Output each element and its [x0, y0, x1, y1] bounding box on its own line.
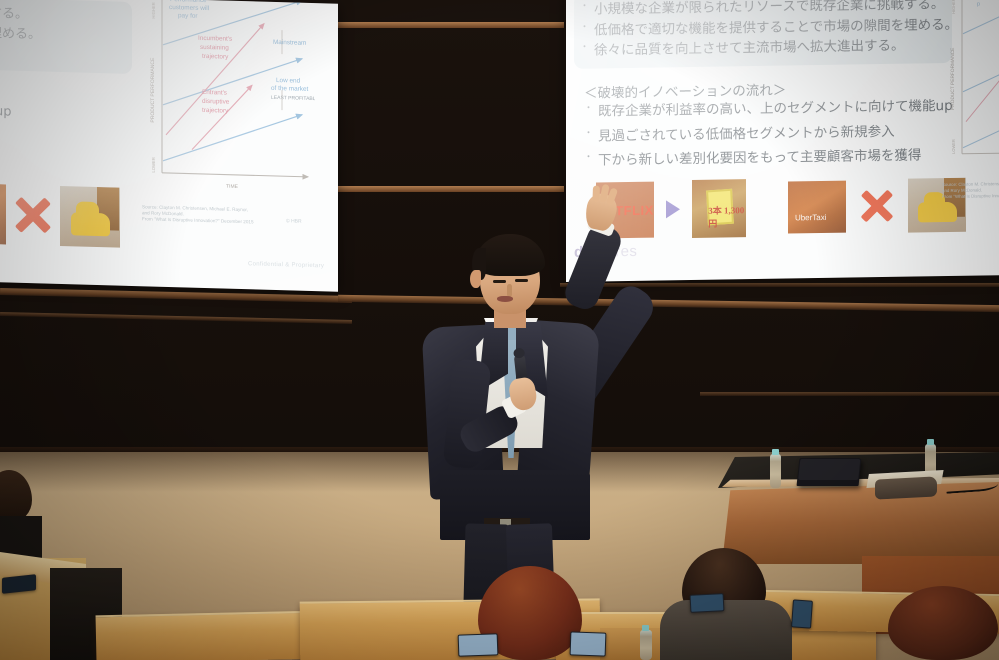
x-mark-icon — [12, 194, 54, 237]
slide-left-highlight-text: 既存企業に挑戦する。 で市場の隙間を埋める。 拡大進出する。 — [0, 0, 132, 74]
bullet-marker: ・ — [580, 20, 589, 35]
mouth — [497, 296, 513, 302]
uber-photo-thumb: UberTaxi — [0, 183, 6, 245]
slide-left-thumbnails: UberTaxi — [0, 183, 120, 248]
svg-text:sustaining: sustaining — [200, 44, 229, 52]
audience-phone-right[interactable] — [791, 599, 813, 628]
audience-phone-raised[interactable] — [690, 593, 725, 613]
svg-text:HIGHER: HIGHER — [151, 2, 156, 18]
chart-source-credit: © HBR — [286, 218, 302, 224]
slide-left-footer: Confidential & Proprietary — [248, 261, 324, 269]
slide-right-b-2: 見過ごされている低価格セグメントから新規参入 — [598, 121, 895, 146]
svg-text:p: p — [977, 1, 980, 7]
x-mark-icon-right — [858, 187, 896, 226]
svg-text:PRODUCT PERFORMANCE: PRODUCT PERFORMANCE — [950, 48, 956, 110]
video-rental-photo: 3本 1,300円 — [692, 179, 746, 238]
svg-text:LOWER: LOWER — [951, 139, 956, 154]
bag[interactable] — [875, 476, 937, 499]
panel-rail-bottom — [338, 186, 564, 192]
podium-front — [722, 482, 999, 564]
slide-left-lower-text: メントに向けて機能up から新規参入 要顧客市場を獲得 — [0, 99, 12, 174]
slide-left-line-1: 既存企業に挑戦する。 — [0, 1, 28, 24]
chart-source-note: Source: Clayton M. Christensen, Michael … — [142, 204, 254, 226]
svg-text:customers will: customers will — [169, 4, 209, 12]
slide-right-thumbnails: NETFLIX 3本 1,300円 UberTaxi — [596, 176, 966, 240]
audience-tablet-left[interactable] — [458, 633, 499, 656]
bullet-marker: ・ — [584, 151, 593, 166]
slide-right-highlight-box: ・ 小規模な企業が限られたリソースで既存企業に挑戦する。 ・ 低価格で適切な機能… — [574, 0, 952, 68]
projection-screen-left: 既存企業に挑戦する。 で市場の隙間を埋める。 拡大進出する。 メントに向けて機能… — [0, 0, 338, 292]
slide-right-b-1: 既存企業が利益率の高い、上のセグメントに向けて機能up — [598, 96, 953, 122]
svg-text:Entrant's: Entrant's — [202, 89, 227, 97]
laptop[interactable] — [797, 458, 862, 486]
wall-trim-right — [700, 392, 999, 396]
svg-text:TIME: TIME — [226, 184, 239, 190]
audience-tablet-center[interactable] — [570, 631, 607, 656]
svg-text:LOWER: LOWER — [151, 157, 156, 172]
chart-svg: Performance customers will pay for MOST … — [140, 0, 315, 199]
svg-text:disruptive: disruptive — [202, 98, 230, 106]
audience-water-bottle[interactable] — [640, 630, 652, 660]
ear — [470, 270, 481, 288]
slide-left-line-2: で市場の隙間を埋める。 — [0, 21, 41, 45]
svg-text:PRODUCT PERFORMANCE: PRODUCT PERFORMANCE — [150, 57, 156, 123]
water-bottle-left[interactable] — [770, 454, 781, 488]
svg-text:Low end: Low end — [276, 77, 301, 85]
svg-text:Mainstream: Mainstream — [273, 39, 306, 47]
taxi-photo-thumb — [60, 186, 120, 248]
svg-text:HIGHER: HIGHER — [951, 0, 956, 14]
uber-photo: UberTaxi — [788, 181, 846, 234]
disruptive-innovation-chart: Performance customers will pay for MOST … — [140, 0, 315, 199]
bullet-marker: ・ — [580, 0, 589, 15]
podium-table — [718, 452, 999, 564]
svg-text:cust: cust — [973, 0, 984, 1]
presenter — [404, 218, 634, 618]
bullet-marker: ・ — [580, 41, 589, 56]
rental-price-label: 3本 1,300円 — [708, 204, 746, 231]
audience-hoodie-center-body — [660, 600, 792, 660]
slide-right-hl-3: 徐々に品質を向上させて主流市場へ拡大進出する。 — [594, 36, 905, 61]
svg-text:of the market: of the market — [271, 85, 309, 93]
disruptive-innovation-chart-right: Perf cust p PRODUCT PERFORMANCE LOWER HI… — [940, 0, 999, 176]
lecture-hall-photo: 既存企業に挑戦する。 で市場の隙間を埋める。 拡大進出する。 メントに向けて機能… — [0, 0, 999, 660]
svg-text:pay for: pay for — [178, 12, 198, 20]
hair — [475, 234, 545, 276]
chart-svg-right: Perf cust p PRODUCT PERFORMANCE LOWER HI… — [940, 0, 999, 176]
svg-text:trajectory: trajectory — [202, 107, 229, 115]
svg-text:Incumbent's: Incumbent's — [198, 35, 232, 43]
arrow-right-icon — [666, 200, 680, 218]
slide-left-low-1: メントに向けて機能up — [0, 99, 12, 122]
panel-rail-top — [338, 22, 564, 28]
slide-right-bullets: ・ 既存企業が利益率の高い、上のセグメントに向けて機能up ・ 見過ごされている… — [584, 96, 953, 171]
svg-text:trajectory: trajectory — [202, 53, 229, 61]
slide-right-b-3: 下から新しい差別化要因をもって主要顧客市場を獲得 — [598, 145, 921, 171]
svg-text:LEAST PROFITABLE: LEAST PROFITABLE — [271, 95, 315, 102]
bullet-marker: ・ — [584, 126, 593, 141]
uber-label-right: UberTaxi — [795, 212, 827, 221]
bullet-marker: ・ — [584, 102, 593, 117]
chart-source-note-right: Source: Clayton M. Christensen, Michael … — [942, 180, 999, 199]
